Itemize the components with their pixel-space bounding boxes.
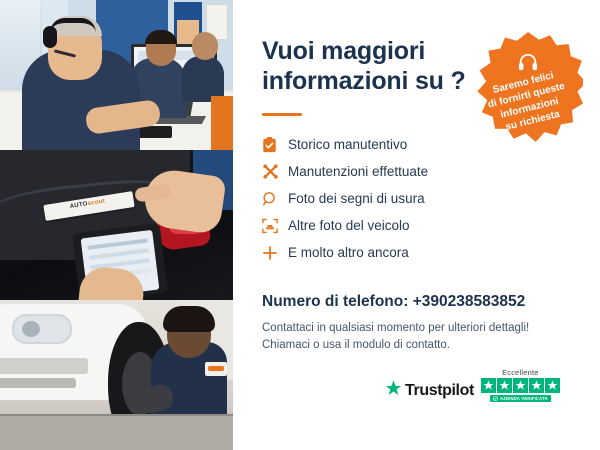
star-filled-icon (545, 378, 560, 393)
feature-label: Foto dei segni di usura (288, 191, 425, 206)
star-filled-icon (529, 378, 544, 393)
uniform-logo-badge (205, 362, 227, 376)
vehicle-measure-photo: AUTOscout (0, 150, 233, 300)
content-panel: Vuoi maggiori informazioni su ? Saremo f… (233, 0, 600, 450)
rating-word: Eccellente (502, 368, 539, 377)
phone-number-label[interactable]: Numero di telefono: +390238583852 (262, 293, 525, 311)
photo-column: AUTOscout (0, 0, 233, 450)
clipboard-check-icon (262, 137, 288, 153)
title-underline-divider (262, 113, 302, 116)
feature-label: E molto altro ancora (288, 245, 409, 260)
promo-card: AUTOscout Vuoi maggiori (0, 0, 600, 450)
feature-item-altro-ancora: E molto altro ancora (262, 239, 512, 266)
headset-earcup (43, 26, 57, 48)
page-title: Vuoi maggiori informazioni su ? (262, 36, 492, 96)
trustpilot-logo: Trustpilot (385, 380, 474, 402)
plus-icon (262, 245, 288, 261)
colleague-head-2 (192, 32, 218, 60)
page-title-line-2: informazioni su ? (262, 66, 492, 96)
star-filled-icon (497, 378, 512, 393)
contact-description: Contattaci in qualsiasi momento per ulte… (262, 320, 552, 354)
trustpilot-rating: Eccellente (481, 368, 560, 402)
verified-company-text: AZIENDA VERIFICATA (500, 396, 548, 401)
feature-label: Manutenzioni effettuate (288, 164, 428, 179)
feature-item-altre-foto: Altre foto del veicolo (262, 212, 512, 239)
feature-item-manutenzioni: Manutenzioni effettuate (262, 158, 512, 185)
car-headlight (12, 314, 72, 344)
call-center-photo (0, 0, 233, 150)
verified-check-icon (493, 396, 498, 401)
contact-description-line-2: Chiamaci o usa il modulo di contatto. (262, 337, 552, 354)
magnifier-icon (262, 191, 288, 207)
feature-label: Storico manutentivo (288, 137, 407, 152)
feature-list: Storico manutentivo Manutenzioni effettu… (262, 131, 512, 266)
feature-label: Altre foto del veicolo (288, 218, 410, 233)
trustpilot-widget[interactable]: Trustpilot Eccellente (385, 368, 570, 402)
star-filled-icon (481, 378, 496, 393)
mechanic-hair (163, 306, 215, 332)
request-info-badge: Saremo felici di fornirti queste informa… (473, 32, 583, 142)
verified-company-badge: AZIENDA VERIFICATA (490, 395, 551, 402)
trustpilot-star-icon (385, 380, 402, 402)
star-filled-icon (513, 378, 528, 393)
headset-band (50, 18, 96, 33)
orange-accent-strip (211, 96, 233, 150)
page-title-line-1: Vuoi maggiori (262, 36, 492, 66)
car-grille (0, 358, 88, 374)
car-lower-grille (0, 378, 76, 388)
lift-platform (0, 416, 233, 450)
mechanic-wheel-photo (0, 300, 233, 450)
contact-description-line-1: Contattaci in qualsiasi momento per ulte… (262, 320, 552, 337)
car-scan-frame-icon (262, 218, 288, 234)
feature-item-foto-usura: Foto dei segni di usura (262, 185, 512, 212)
feature-item-storico: Storico manutentivo (262, 131, 512, 158)
star-rating (481, 378, 560, 393)
crossed-tools-icon (262, 163, 288, 180)
trustpilot-wordmark: Trustpilot (405, 382, 474, 400)
